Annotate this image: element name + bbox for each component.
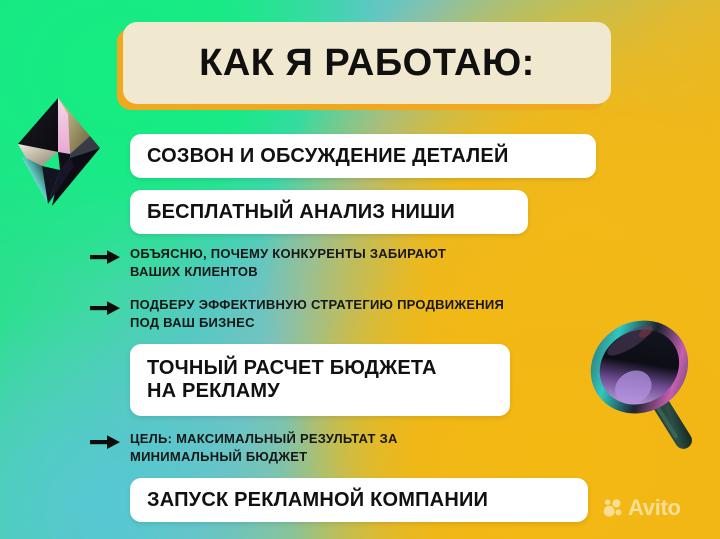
page-title: КАК Я РАБОТАЮ: xyxy=(199,44,535,82)
bullet-row-2: ПОДБЕРУ ЭФФЕКТИВНУЮ СТРАТЕГИЮ ПРОДВИЖЕНИ… xyxy=(90,296,610,332)
bullet-row-1-text: ОБЪЯСНЮ, ПОЧЕМУ КОНКУРЕНТЫ ЗАБИРАЮТ ВАШИ… xyxy=(130,245,446,281)
step-pill-2-label: БЕСПЛАТНЫЙ АНАЛИЗ НИШИ xyxy=(147,201,455,224)
title-banner-card: КАК Я РАБОТАЮ: xyxy=(123,22,611,104)
step-pill-2: БЕСПЛАТНЫЙ АНАЛИЗ НИШИ xyxy=(130,190,528,234)
bullet-row-1: ОБЪЯСНЮ, ПОЧЕМУ КОНКУРЕНТЫ ЗАБИРАЮТ ВАШИ… xyxy=(90,245,610,281)
step-pill-3: ТОЧНЫЙ РАСЧЕТ БЮДЖЕТА НА РЕКЛАМУ xyxy=(130,344,510,416)
step-pill-4-label: ЗАПУСК РЕКЛАМНОЙ КОМПАНИИ xyxy=(147,489,488,512)
step-pill-3-label: ТОЧНЫЙ РАСЧЕТ БЮДЖЕТА НА РЕКЛАМУ xyxy=(147,357,437,403)
bullet-row-2-text: ПОДБЕРУ ЭФФЕКТИВНУЮ СТРАТЕГИЮ ПРОДВИЖЕНИ… xyxy=(130,296,504,332)
avito-watermark: Avito xyxy=(603,497,681,519)
avito-wordmark: Avito xyxy=(628,497,681,519)
arrow-right-icon xyxy=(90,248,120,266)
arrow-right-icon xyxy=(90,299,120,317)
step-pill-1-label: СОЗВОН И ОБСУЖДЕНИЕ ДЕТАЛЕЙ xyxy=(147,145,509,168)
step-pill-1: СОЗВОН И ОБСУЖДЕНИЕ ДЕТАЛЕЙ xyxy=(130,134,596,178)
poster-canvas: КАК Я РАБОТАЮ: СОЗВОН И ОБСУЖДЕНИЕ ДЕТАЛ… xyxy=(0,0,720,539)
arrow-right-icon xyxy=(90,433,120,451)
step-pill-4: ЗАПУСК РЕКЛАМНОЙ КОМПАНИИ xyxy=(130,478,588,522)
crystal-gem-icon xyxy=(12,96,108,208)
title-banner: КАК Я РАБОТАЮ: xyxy=(123,22,611,104)
bullet-row-3: ЦЕЛЬ: МАКСИМАЛЬНЫЙ РЕЗУЛЬТАТ ЗА МИНИМАЛЬ… xyxy=(90,430,610,466)
avito-dots-icon xyxy=(603,498,623,518)
bullet-row-3-text: ЦЕЛЬ: МАКСИМАЛЬНЫЙ РЕЗУЛЬТАТ ЗА МИНИМАЛЬ… xyxy=(130,430,398,466)
